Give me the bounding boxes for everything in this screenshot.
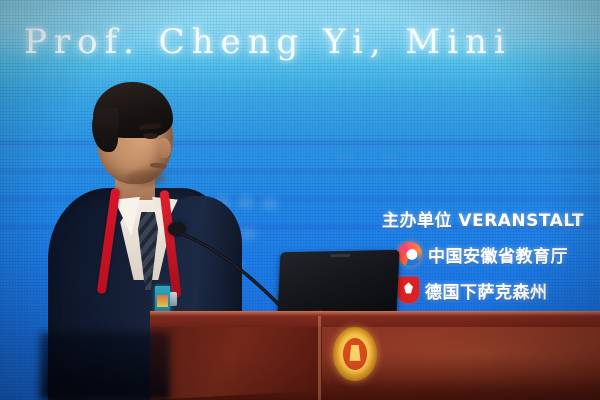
sponsor-label: 中国安徽省教育厅 xyxy=(428,242,568,267)
laptop-screen xyxy=(277,250,399,318)
headline-text: Prof. Cheng Yi, Mini xyxy=(24,25,512,59)
podium-corner-edge xyxy=(318,316,321,400)
speaker-eye xyxy=(143,133,158,139)
speaker-nose xyxy=(158,138,171,158)
sponsor-row-organizer-heading: 主办单位 VERANSTALT xyxy=(370,200,600,236)
speaker-chin-shadow xyxy=(126,170,166,186)
conference-stage-photo: Prof. Cheng Yi, Mini 主办单位 VERANSTALT 中国安… xyxy=(0,0,600,400)
red-shield-logo-icon xyxy=(398,277,419,303)
podium-bevel xyxy=(150,311,600,316)
sponsor-label: 德国下萨克森州 xyxy=(425,278,548,303)
university-crest-emblem xyxy=(333,327,377,381)
swirl-c-logo-icon xyxy=(398,242,422,266)
sponsor-label: 主办单位 VERANSTALT xyxy=(382,206,584,231)
sponsor-row-anhui-education-dept: 中国安徽省教育厅 xyxy=(370,236,600,272)
foreground-shadow xyxy=(40,332,170,400)
sponsor-row-lower-saxony: 德国下萨克森州 xyxy=(370,272,600,308)
